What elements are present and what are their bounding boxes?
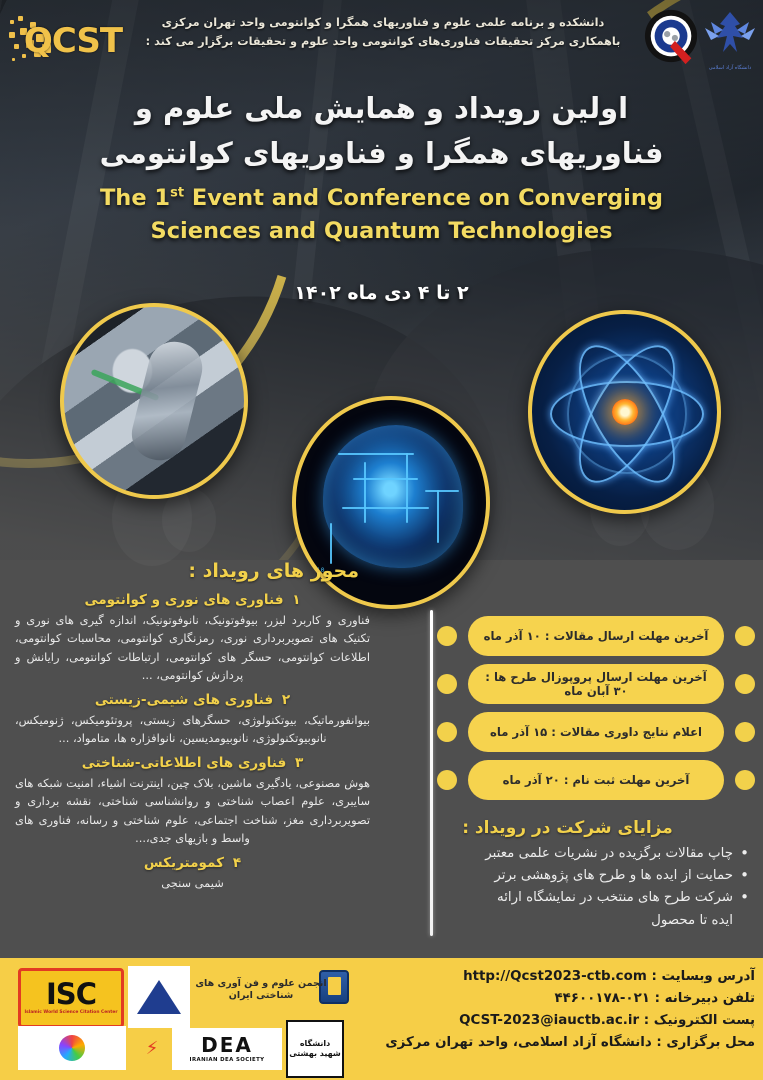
website-value[interactable]: http://Qcst2023-ctb.com <box>463 969 647 984</box>
isc-logo-main: ISC <box>46 981 96 1009</box>
topic-title-text: کمومتریکس <box>144 855 224 871</box>
phone-value: ۰۲۱-۴۴۶۰۰۱۷۸ <box>554 991 649 1006</box>
header-subtitle-line-1: دانشکده و برنامه علمی علوم و فناوریهای ه… <box>143 14 623 33</box>
deadline-pill[interactable]: آخرین مهلت ثبت نام : ۲۰ آذر ماه <box>468 760 724 800</box>
topic-body: بیوانفورماتیک، بیوتکنولوژی، حسگرهای زیست… <box>15 711 370 748</box>
english-title-ordinal-prefix: The 1 <box>100 185 170 211</box>
email-value[interactable]: QCST-2023@iauctb.ac.ir <box>459 1013 639 1028</box>
azad-university-logo: دانشگاه آزاد اسلامی <box>703 8 757 74</box>
cognitive-society-logo <box>128 966 190 1028</box>
deadline-row: آخرین مهلت ثبت نام : ۲۰ آذر ماه <box>437 756 755 804</box>
isc-logo: ISC Islamic World Science Citation Cente… <box>18 968 124 1028</box>
pill-dot-left <box>437 722 457 742</box>
event-date: ۲ تا ۴ دی ماه ۱۴۰۲ <box>0 282 763 304</box>
deadline-row: آخرین مهلت ارسال مقالات : ۱۰ آذر ماه <box>437 612 755 660</box>
isc-logo-sub: Islamic World Science Citation Center <box>24 1010 117 1015</box>
deadline-pill[interactable]: اعلام نتایج داوری مقالات : ۱۵ آذر ماه <box>468 712 724 752</box>
topic-number: ۳ <box>295 755 303 771</box>
topic-body: شیمی سنجی <box>15 874 370 892</box>
brain-core-shape <box>323 425 464 569</box>
conference-poster: QCST دانشکده و برنامه علمی علوم و فناوری… <box>0 0 763 1080</box>
quantum-center-logo <box>643 8 701 66</box>
topic-title-text: فناوری های اطلاعاتی-شناختی <box>82 755 287 771</box>
header-subtitle: دانشکده و برنامه علمی علوم و فناوریهای ه… <box>143 14 623 51</box>
venue-label: محل برگزاری : <box>656 1035 755 1050</box>
benefit-item: چاپ مقالات برگزیده در نشریات علمی معتبر <box>389 843 749 864</box>
persian-title-line-1: اولین رویداد و همایش ملی علوم و <box>0 86 763 131</box>
pill-dot-left <box>437 626 457 646</box>
topic-title-text: فناوری های شیمی-زیستی <box>95 692 273 708</box>
pill-dot-left <box>437 770 457 790</box>
topic-title: ۴ کمومتریکس <box>15 855 370 871</box>
english-title-ordinal-suffix: st <box>170 186 184 201</box>
topic-number: ۱ <box>292 592 300 608</box>
topic-item: ۱ فناوری های نوری و کوانتومی فناوری و کا… <box>15 592 370 685</box>
pill-dot-left <box>437 674 457 694</box>
english-title: The 1st Event and Conference on Convergi… <box>0 182 763 247</box>
venue-value: دانشگاه آزاد اسلامی، واحد تهران مرکزی <box>385 1035 651 1050</box>
topic-item: ۴ کمومتریکس شیمی سنجی <box>15 855 370 892</box>
header-subtitle-line-2: باهمکاری مرکز تحقیقات فناوری‌های کوانتوم… <box>143 33 623 52</box>
topic-item: ۲ فناوری های شیمی-زیستی بیوانفورماتیک، ب… <box>15 692 370 748</box>
sponsor-logos: ISC Islamic World Science Citation Cente… <box>4 962 344 1076</box>
topics-list: ۱ فناوری های نوری و کوانتومی فناوری و کا… <box>15 592 370 899</box>
dea-logo-main: DEA <box>201 1035 253 1055</box>
deadline-row: آخرین مهلت ارسال پروپوزال طرح ها : ۳۰ آب… <box>437 660 755 708</box>
pill-dot-right <box>735 626 755 646</box>
azad-logo-caption: دانشگاه آزاد اسلامی <box>703 65 757 71</box>
deadline-pill[interactable]: آخرین مهلت ارسال مقالات : ۱۰ آذر ماه <box>468 616 724 656</box>
topic-number: ۴ <box>233 855 241 871</box>
deadline-pill[interactable]: آخرین مهلت ارسال پروپوزال طرح ها : ۳۰ آب… <box>468 664 724 704</box>
colorwheel-logo <box>18 1026 126 1070</box>
topic-title: ۲ فناوری های شیمی-زیستی <box>15 692 370 708</box>
email-label: پست الکترونیک : <box>644 1013 755 1028</box>
colorwheel-icon <box>59 1035 85 1061</box>
topic-title-text: فناوری های نوری و کوانتومی <box>84 592 283 608</box>
topic-body: هوش مصنوعی، یادگیری ماشین، بلاک چین، این… <box>15 774 370 848</box>
contact-info: آدرس وبسایت : http://Qcst2023-ctb.com تل… <box>351 966 755 1053</box>
dea-logo: DEA IRANIAN DEA SOCIETY <box>172 1028 282 1070</box>
website-row: آدرس وبسایت : http://Qcst2023-ctb.com <box>351 966 755 988</box>
topic-title: ۳ فناوری های اطلاعاتی-شناختی <box>15 755 370 771</box>
benefits-tagline: ایده تا محصول <box>389 910 749 931</box>
deadlines-list: آخرین مهلت ارسال مقالات : ۱۰ آذر ماه آخر… <box>437 612 755 804</box>
atom-photo <box>528 310 721 514</box>
phone-row: تلفن دبیرخانه : ۰۲۱-۴۴۶۰۰۱۷۸ <box>351 988 755 1010</box>
benefits-heading: مزایای شرکت در رویداد : <box>390 818 745 838</box>
persian-title: اولین رویداد و همایش ملی علوم و فناوریها… <box>0 86 763 176</box>
benefit-item: شرکت طرح های منتخب در نمایشگاه ارائه <box>389 887 749 908</box>
phone-label: تلفن دبیرخانه : <box>655 991 755 1006</box>
cognitive-society-caption: انجمن علوم و فن آوری های شناختی ایران <box>186 978 336 1003</box>
topic-title: ۱ فناوری های نوری و کوانتومی <box>15 592 370 608</box>
microscope-photo <box>60 303 248 499</box>
topics-heading: محور های رویداد : <box>188 560 359 582</box>
poster-header: QCST دانشکده و برنامه علمی علوم و فناوری… <box>0 0 763 86</box>
atom-nucleus-icon <box>612 399 638 425</box>
english-title-line-1-rest: Event and Conference on Converging <box>192 185 663 211</box>
deadline-row: اعلام نتایج داوری مقالات : ۱۵ آذر ماه <box>437 708 755 756</box>
niroo-research-logo: ⚡ <box>132 1028 172 1070</box>
website-label: آدرس وبسایت : <box>651 969 755 984</box>
pill-dot-right <box>735 722 755 742</box>
venue-row: محل برگزاری : دانشگاه آزاد اسلامی، واحد … <box>351 1032 755 1054</box>
topic-body: فناوری و کاربرد لیزر، بیوفوتونیک، نانوفو… <box>15 611 370 685</box>
english-title-line-2: Sciences and Quantum Technologies <box>0 215 763 248</box>
poster-footer: آدرس وبسایت : http://Qcst2023-ctb.com تل… <box>0 958 763 1080</box>
persian-title-line-2: فناوریهای همگرا و فناوریهای کوانتومی <box>0 131 763 176</box>
topic-number: ۲ <box>282 692 290 708</box>
english-title-line-1: The 1st Event and Conference on Convergi… <box>0 182 763 215</box>
shahid-beheshti-logo: دانشگاه شهید بهشتی <box>286 1020 344 1078</box>
pill-dot-right <box>735 770 755 790</box>
email-row: پست الکترونیک : QCST-2023@iauctb.ac.ir <box>351 1010 755 1032</box>
topic-item: ۳ فناوری های اطلاعاتی-شناختی هوش مصنوعی،… <box>15 755 370 848</box>
benefits-list: چاپ مقالات برگزیده در نشریات علمی معتبر … <box>389 843 749 931</box>
pill-dot-right <box>735 674 755 694</box>
lightning-bolt-icon: ⚡ <box>146 1040 159 1058</box>
benefit-item: حمایت از ایده ها و طرح های پژوهشی برتر <box>389 865 749 886</box>
dea-logo-sub: IRANIAN DEA SOCIETY <box>190 1057 265 1063</box>
qcst-logo: QCST <box>14 10 132 72</box>
ghost-circle-2 <box>162 488 216 552</box>
